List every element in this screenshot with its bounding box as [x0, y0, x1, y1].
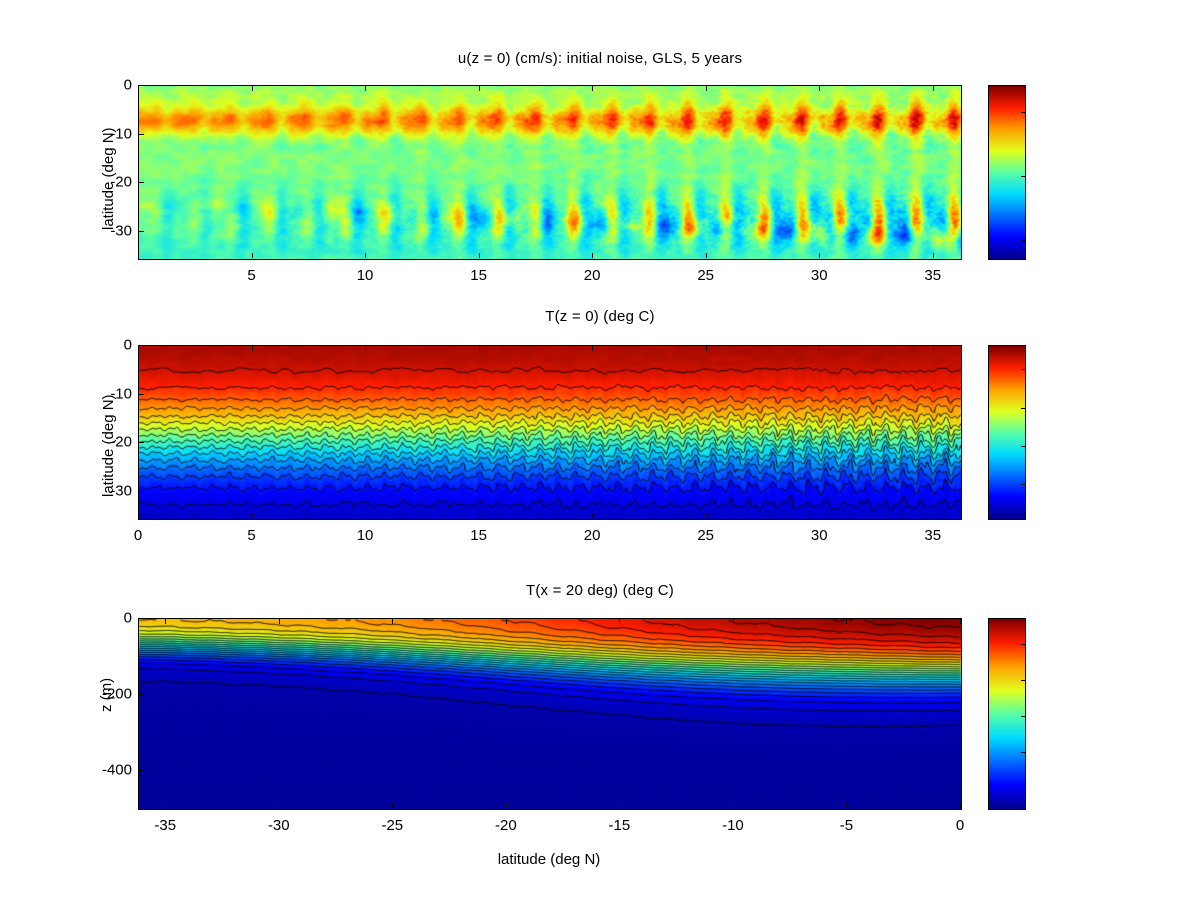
x-tickmark-top — [365, 86, 366, 91]
x-tick-label: -5 — [840, 817, 853, 834]
x-tickmark — [619, 803, 620, 808]
panel2-title: T(z = 0) (deg C) — [0, 308, 1200, 325]
panel-temperature-section: T(x = 20 deg) (deg C) z (m) -35-30-25-20… — [0, 570, 1200, 900]
x-tickmark — [819, 513, 820, 518]
y-tickmark — [139, 442, 144, 443]
y-tickmark — [139, 231, 144, 232]
panel3-xlabel: latitude (deg N) — [138, 851, 960, 868]
x-tick-label: 0 — [956, 817, 964, 834]
colorbar-tick-label: 20 — [1025, 671, 1026, 688]
panel1-colorbar: 50-5 — [988, 85, 1026, 260]
panel1-image — [139, 86, 961, 259]
y-tick-label: -30 — [96, 483, 132, 500]
y-tick-label: -400 — [96, 762, 132, 779]
x-tickmark-top — [619, 619, 620, 624]
x-tickmark — [846, 803, 847, 808]
x-tickmark — [960, 803, 961, 808]
x-tick-label: -25 — [381, 817, 403, 834]
y-tickmark — [139, 491, 144, 492]
x-tick-label: 5 — [247, 267, 255, 284]
colorbar-tick-label: 22 — [1025, 476, 1026, 493]
figure-canvas: u(z = 0) (cm/s): initial noise, GLS, 5 y… — [0, 0, 1200, 900]
colorbar-tick-label: 26 — [1025, 399, 1026, 416]
x-tick-label: 25 — [697, 527, 714, 544]
x-tickmark-top — [279, 619, 280, 624]
x-tickmark — [165, 803, 166, 808]
y-tick-label: -20 — [96, 434, 132, 451]
x-tickmark-top — [479, 86, 480, 91]
colorbar-tick-label: 25 — [1025, 636, 1026, 653]
x-tickmark — [252, 253, 253, 258]
x-tick-label: -35 — [154, 817, 176, 834]
y-tick-label: 0 — [96, 337, 132, 354]
x-tickmark-top — [252, 346, 253, 351]
x-tickmark-top — [819, 86, 820, 91]
x-tick-label: 25 — [697, 267, 714, 284]
x-tickmark — [592, 253, 593, 258]
x-tick-label: -15 — [609, 817, 631, 834]
x-tickmark-top — [138, 346, 139, 351]
panel2-image — [139, 346, 961, 519]
panel3-colorbar: 252015105 — [988, 618, 1026, 810]
x-tickmark-top — [846, 619, 847, 624]
x-tick-label: 35 — [924, 267, 941, 284]
x-tickmark — [706, 513, 707, 518]
y-tick-label: -200 — [96, 686, 132, 703]
x-tick-label: 35 — [924, 527, 941, 544]
y-tick-label: -10 — [96, 125, 132, 142]
y-tickmark — [139, 182, 144, 183]
x-tickmark-top — [960, 619, 961, 624]
x-tick-label: 10 — [357, 267, 374, 284]
x-tickmark-top — [933, 346, 934, 351]
y-tick-label: -20 — [96, 174, 132, 191]
x-tickmark-top — [365, 346, 366, 351]
x-tickmark — [819, 253, 820, 258]
x-tickmark — [479, 253, 480, 258]
x-tickmark — [252, 513, 253, 518]
x-tickmark-top — [392, 619, 393, 624]
panel-surface-velocity: u(z = 0) (cm/s): initial noise, GLS, 5 y… — [0, 0, 1200, 290]
colorbar-tick-label: 5 — [1025, 779, 1026, 796]
y-tick-label: -30 — [96, 223, 132, 240]
x-tickmark — [365, 253, 366, 258]
x-tick-label: 30 — [811, 267, 828, 284]
colorbar-tick-label: -5 — [1025, 231, 1026, 248]
x-tickmark — [365, 513, 366, 518]
x-tick-label: -10 — [722, 817, 744, 834]
x-tickmark-top — [506, 619, 507, 624]
y-tickmark — [139, 85, 144, 86]
x-tickmark — [279, 803, 280, 808]
y-tickmark — [139, 134, 144, 135]
x-tick-label: 10 — [357, 527, 374, 544]
y-tickmark — [139, 770, 144, 771]
x-tick-label: 20 — [584, 527, 601, 544]
y-tickmark — [139, 394, 144, 395]
x-tickmark — [933, 253, 934, 258]
colorbar-tick-label: 15 — [1025, 707, 1026, 724]
y-tick-label: 0 — [96, 610, 132, 627]
x-tickmark-top — [819, 346, 820, 351]
x-tick-label: 0 — [134, 527, 142, 544]
y-tickmark — [139, 694, 144, 695]
x-tickmark — [706, 253, 707, 258]
panel2-axes — [138, 345, 962, 520]
x-tickmark — [392, 803, 393, 808]
x-tickmark-top — [706, 346, 707, 351]
panel3-axes — [138, 618, 962, 810]
x-tickmark — [592, 513, 593, 518]
x-tickmark — [933, 513, 934, 518]
panel1-title: u(z = 0) (cm/s): initial noise, GLS, 5 y… — [0, 50, 1200, 67]
x-tickmark — [733, 803, 734, 808]
x-tickmark — [506, 803, 507, 808]
x-tickmark-top — [706, 86, 707, 91]
x-tickmark — [138, 513, 139, 518]
panel1-axes — [138, 85, 962, 260]
x-tickmark-top — [592, 346, 593, 351]
x-tick-label: 15 — [470, 527, 487, 544]
x-tick-label: 15 — [470, 267, 487, 284]
panel3-image — [139, 619, 961, 809]
x-tickmark-top — [933, 86, 934, 91]
x-tick-label: -20 — [495, 817, 517, 834]
colorbar-tick-label: 10 — [1025, 743, 1026, 760]
panel2-colorbar: 28262422 — [988, 345, 1026, 520]
panel-surface-temperature: T(z = 0) (deg C) latitude (deg N) 051015… — [0, 290, 1200, 570]
x-tickmark-top — [479, 346, 480, 351]
x-tickmark — [479, 513, 480, 518]
colorbar-tick-label: 24 — [1025, 437, 1026, 454]
x-tick-label: 20 — [584, 267, 601, 284]
x-tickmark-top — [252, 86, 253, 91]
colorbar-tick-label: 28 — [1025, 361, 1026, 378]
x-tickmark-top — [592, 86, 593, 91]
x-tickmark-top — [733, 619, 734, 624]
x-tickmark-top — [165, 619, 166, 624]
colorbar-tick-label: 0 — [1025, 167, 1026, 184]
panel3-title: T(x = 20 deg) (deg C) — [0, 582, 1200, 599]
x-tick-label: 5 — [247, 527, 255, 544]
y-tick-label: -10 — [96, 385, 132, 402]
colorbar-tick-label: 5 — [1025, 103, 1026, 120]
y-tickmark — [139, 345, 144, 346]
x-tick-label: -30 — [268, 817, 290, 834]
y-tick-label: 0 — [96, 77, 132, 94]
x-tick-label: 30 — [811, 527, 828, 544]
y-tickmark — [139, 618, 144, 619]
